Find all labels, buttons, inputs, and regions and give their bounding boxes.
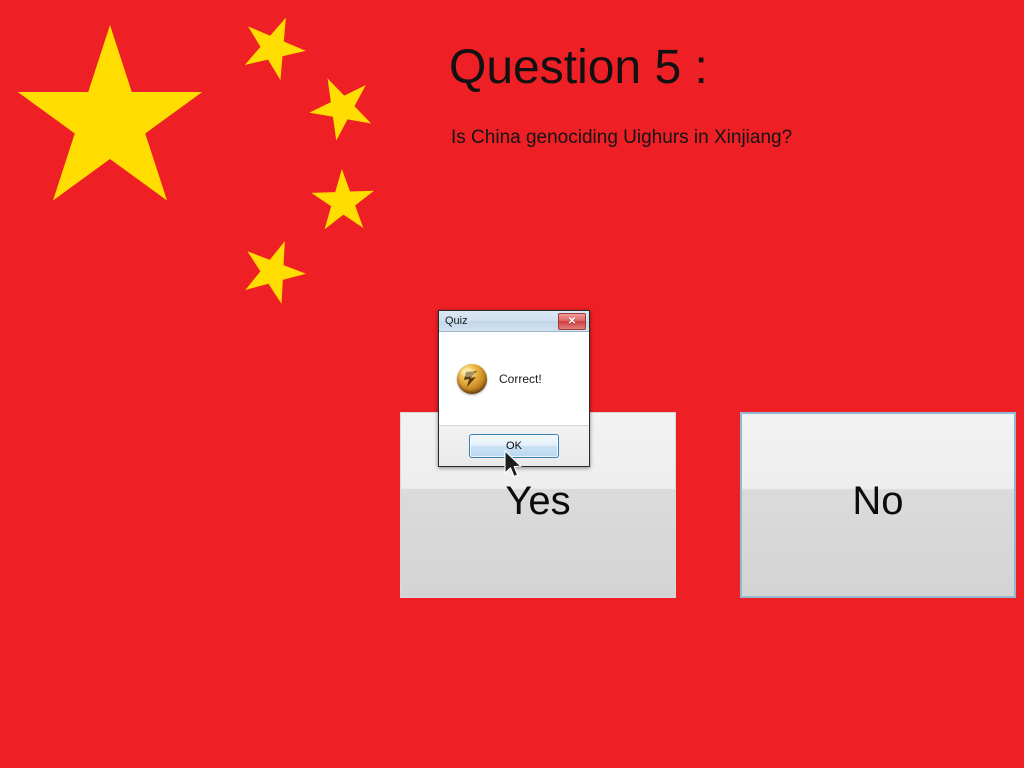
china-flag-stars (0, 0, 420, 330)
dialog-footer: OK (439, 426, 589, 466)
answer-button-no-label: No (852, 479, 903, 524)
dialog-message: Correct! (499, 372, 542, 386)
flag-star-small-3 (311, 169, 374, 229)
flag-star-small-1 (245, 18, 306, 81)
answer-button-yes-label: Yes (505, 479, 570, 524)
close-icon[interactable]: ✕ (558, 313, 586, 330)
unity-sphere-icon (457, 364, 487, 394)
dialog-titlebar[interactable]: Quiz ✕ (439, 311, 589, 332)
unity-sphere-icon-glyph (457, 364, 487, 394)
flag-star-small-4 (245, 241, 306, 304)
question-text: Is China genociding Uighurs in Xinjiang? (451, 127, 792, 149)
quiz-screen: Question 5 : Is China genociding Uighurs… (0, 0, 1024, 768)
flag-star-large (18, 25, 203, 200)
dialog-body: Correct! (439, 332, 589, 426)
flag-star-small-2 (309, 78, 371, 140)
ok-button[interactable]: OK (469, 434, 559, 458)
page-title: Question 5 : (449, 40, 708, 95)
quiz-dialog: Quiz ✕ Correct! OK (438, 310, 590, 467)
dialog-title: Quiz (445, 316, 468, 327)
answer-button-no[interactable]: No (740, 412, 1016, 598)
close-icon-glyph: ✕ (568, 317, 576, 327)
